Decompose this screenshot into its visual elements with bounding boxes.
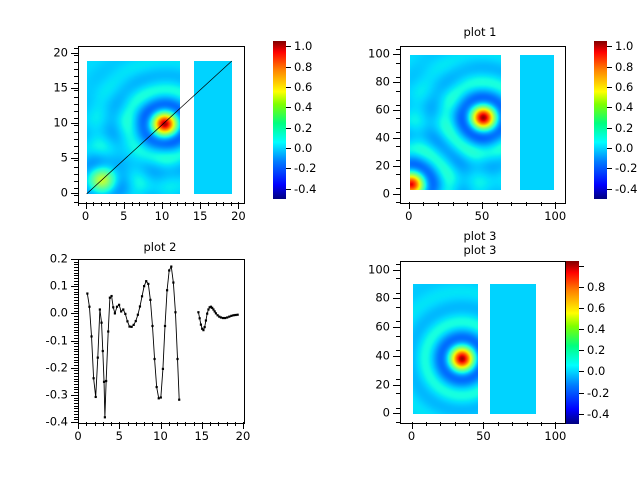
colorbar-tick <box>286 168 291 169</box>
y-minor-tick <box>396 91 400 92</box>
x-minor-tick <box>227 422 228 426</box>
colorbar-tick <box>607 128 612 129</box>
line-series-marker <box>158 397 160 399</box>
x-tick-label: 50 <box>476 431 491 443</box>
colorbar-tick-label: 1.0 <box>615 39 633 53</box>
x-major-tick <box>161 422 162 429</box>
y-minor-tick <box>74 62 78 63</box>
y-minor-tick <box>74 406 78 407</box>
y-major-tick <box>393 138 400 139</box>
y-tick-label: 0.2 <box>0 253 68 265</box>
y-minor-tick <box>74 97 78 98</box>
y-minor-tick <box>74 111 78 112</box>
x-minor-tick <box>177 202 178 206</box>
line-series-marker <box>133 324 135 326</box>
line-series-marker <box>90 335 92 337</box>
x-minor-tick <box>144 422 145 426</box>
colorbar-tick-label: -0.4 <box>587 407 609 421</box>
colorbar-tick-label: 0.8 <box>294 60 312 74</box>
y-minor-tick <box>74 335 78 336</box>
line-series-marker <box>178 399 180 401</box>
line-series-marker <box>224 317 226 319</box>
colorbar-tick <box>607 87 612 88</box>
y-major-tick <box>71 395 78 396</box>
x-minor-tick <box>169 422 170 426</box>
y-minor-tick <box>74 125 78 126</box>
y-minor-tick <box>396 379 400 380</box>
x-minor-tick <box>223 202 224 206</box>
y-minor-tick <box>74 188 78 189</box>
y-minor-tick <box>74 338 78 339</box>
y-minor-tick <box>74 343 78 344</box>
y-minor-tick <box>74 419 78 420</box>
y-major-tick <box>393 413 400 414</box>
y-tick-label: 5 <box>0 152 68 164</box>
y-minor-tick <box>74 76 78 77</box>
y-tick-label: 15 <box>0 82 68 94</box>
x-minor-tick <box>231 202 232 206</box>
y-minor-tick <box>74 319 78 320</box>
y-major-tick <box>71 313 78 314</box>
line-series-marker <box>234 314 236 316</box>
line-series-marker <box>95 396 97 398</box>
y-minor-tick <box>74 104 78 105</box>
colorbar-top-left <box>273 41 286 199</box>
heatmap-canvas <box>410 55 501 190</box>
x-major-tick <box>119 422 120 429</box>
x-major-tick <box>555 422 556 429</box>
line-series-marker <box>206 313 208 315</box>
colorbar-tick <box>286 87 291 88</box>
line-series-marker <box>139 305 141 307</box>
panel-bottom-right: plot 3 050100020406080100 -0.4-0.20.00.2… <box>320 240 640 480</box>
line-series-marker <box>212 308 214 310</box>
line-series-marker <box>124 313 126 315</box>
y-minor-tick <box>396 365 400 366</box>
y-major-tick <box>71 341 78 342</box>
y-minor-tick <box>396 422 400 423</box>
y-tick-label: 80 <box>320 76 390 88</box>
colorbar-tick-label: -0.2 <box>615 161 637 175</box>
y-minor-tick <box>396 278 400 279</box>
x-tick-label: 0 <box>82 211 89 223</box>
line-series-marker <box>149 299 151 301</box>
line-series-marker <box>135 320 137 322</box>
line-series-marker <box>176 358 178 360</box>
x-major-tick <box>200 202 201 209</box>
y-minor-tick <box>74 403 78 404</box>
y-tick-label: 100 <box>320 264 390 276</box>
colorbar-tick-label: -0.4 <box>615 182 637 196</box>
x-minor-tick <box>95 422 96 426</box>
line-series-marker <box>86 292 88 294</box>
panel-top-right: plot 1 050100020406080100plot 3 -0.4-0.2… <box>320 0 640 240</box>
y-minor-tick <box>74 376 78 377</box>
y-minor-tick <box>74 146 78 147</box>
x-major-tick <box>202 422 203 429</box>
panel-bottom-left: plot 2 051015200.20.10.0-0.1-0.2-0.3-0.4 <box>0 240 320 480</box>
colorbar-tick-label: 0.0 <box>615 141 633 155</box>
x-tick-label: 100 <box>544 211 566 223</box>
x-minor-tick <box>526 202 527 206</box>
y-minor-tick <box>74 392 78 393</box>
colorbar-tick-label: -0.4 <box>294 182 316 196</box>
line-series-marker <box>230 315 232 317</box>
x-minor-tick <box>218 422 219 426</box>
line-series-marker <box>226 316 228 318</box>
y-major-tick <box>393 54 400 55</box>
colorbar-tick <box>286 148 291 149</box>
y-tick-label: -0.1 <box>0 335 68 347</box>
y-major-tick <box>393 270 400 271</box>
heatmap-canvas <box>520 55 554 190</box>
line-series-marker <box>220 316 222 318</box>
line-series-marker <box>118 304 120 306</box>
y-minor-tick <box>74 292 78 293</box>
x-minor-tick <box>132 202 133 206</box>
x-minor-tick <box>103 422 104 426</box>
colorbar-gradient-top-right <box>594 41 607 199</box>
line-series-marker <box>222 317 224 319</box>
y-tick-label: 0.1 <box>0 280 68 292</box>
y-tick-label: 20 <box>320 379 390 391</box>
y-minor-tick <box>74 311 78 312</box>
x-minor-tick <box>216 202 217 206</box>
colorbar-tick-label: 0.0 <box>587 364 605 378</box>
line-series-plot <box>79 260 245 424</box>
colorbar-tick <box>579 329 584 330</box>
colorbar-tick <box>286 128 291 129</box>
y-minor-tick <box>74 267 78 268</box>
x-tick-label: 5 <box>120 211 127 223</box>
heatmap-canvas <box>490 284 536 414</box>
y-minor-tick <box>74 297 78 298</box>
colorbar-tick-label: 0.6 <box>615 80 633 94</box>
x-minor-tick <box>147 202 148 206</box>
y-minor-tick <box>396 293 400 294</box>
x-minor-tick <box>438 202 439 206</box>
line-series-marker <box>88 306 90 308</box>
x-minor-tick <box>194 422 195 426</box>
x-minor-tick <box>101 202 102 206</box>
x-minor-tick <box>423 202 424 206</box>
line-series-marker <box>166 289 168 291</box>
axes-top-right <box>400 46 566 204</box>
y-minor-tick <box>396 63 400 64</box>
y-minor-tick <box>74 354 78 355</box>
heatmap-image-patch <box>490 284 536 414</box>
heatmap-image-patch <box>413 284 478 414</box>
colorbar-tick-label: 0.4 <box>615 100 633 114</box>
y-minor-tick <box>74 408 78 409</box>
x-minor-tick <box>139 202 140 206</box>
y-minor-tick <box>74 308 78 309</box>
x-tick-label: 15 <box>194 431 209 443</box>
y-minor-tick <box>396 307 400 308</box>
x-tick-label: 50 <box>475 211 490 223</box>
y-major-tick <box>71 259 78 260</box>
panel-bottom-left-title: plot 2 <box>0 240 320 254</box>
y-minor-tick <box>396 188 400 189</box>
y-minor-tick <box>74 305 78 306</box>
x-minor-tick <box>116 202 117 206</box>
y-minor-tick <box>74 414 78 415</box>
x-major-tick <box>86 202 87 209</box>
line-series-marker <box>103 381 105 383</box>
y-minor-tick <box>74 294 78 295</box>
line-series-marker <box>105 380 107 382</box>
x-minor-tick <box>512 422 513 426</box>
colorbar-tick-label: 0.2 <box>587 343 605 357</box>
colorbar-tick <box>286 46 291 47</box>
line-series-marker <box>215 312 217 314</box>
x-tick-label: 0 <box>408 431 415 443</box>
colorbar-top-right <box>594 41 607 199</box>
line-series-marker <box>197 311 199 313</box>
x-minor-tick <box>109 202 110 206</box>
x-minor-tick <box>78 202 79 206</box>
line-series-marker <box>200 324 202 326</box>
colorbar-tick-label: 0.0 <box>294 141 312 155</box>
y-minor-tick <box>74 387 78 388</box>
line-series-marker <box>162 368 164 370</box>
y-minor-tick <box>74 417 78 418</box>
y-major-tick <box>71 286 78 287</box>
axes-top-left <box>78 46 245 204</box>
x-minor-tick <box>136 422 137 426</box>
y-minor-tick <box>74 330 78 331</box>
y-tick-label: 80 <box>320 293 390 305</box>
y-major-tick <box>393 110 400 111</box>
y-minor-tick <box>74 55 78 56</box>
x-minor-tick <box>111 422 112 426</box>
colorbar-tick-label: 1.0 <box>294 39 312 53</box>
line-series-marker <box>151 325 153 327</box>
x-major-tick <box>482 202 483 209</box>
y-minor-tick <box>74 281 78 282</box>
colorbar-tick <box>607 67 612 68</box>
x-minor-tick <box>128 422 129 426</box>
line-series-marker <box>116 306 118 308</box>
y-tick-label: -0.2 <box>0 362 68 374</box>
colorbar-tick-label: 0.4 <box>587 322 605 336</box>
x-tick-label: 15 <box>193 211 208 223</box>
y-minor-tick <box>396 132 400 133</box>
y-tick-label: 0.0 <box>0 308 68 320</box>
axes-bottom-right <box>400 261 566 424</box>
x-minor-tick <box>193 202 194 206</box>
x-major-tick <box>409 202 410 209</box>
y-tick-label: 40 <box>320 350 390 362</box>
line-series-marker <box>164 325 166 327</box>
line-series-marker <box>131 326 133 328</box>
y-tick-label: 60 <box>320 104 390 116</box>
x-tick-label: 20 <box>231 211 246 223</box>
y-minor-tick <box>74 316 78 317</box>
y-minor-tick <box>396 408 400 409</box>
y-major-tick <box>393 82 400 83</box>
y-tick-label: 20 <box>320 160 390 172</box>
y-minor-tick <box>74 153 78 154</box>
y-tick-label: 0 <box>320 188 390 200</box>
y-minor-tick <box>74 357 78 358</box>
x-minor-tick <box>541 422 542 426</box>
x-minor-tick <box>235 422 236 426</box>
y-minor-tick <box>74 327 78 328</box>
x-minor-tick <box>440 422 441 426</box>
line-series-marker <box>97 357 99 359</box>
y-minor-tick <box>74 275 78 276</box>
colorbar-tick <box>579 371 584 372</box>
heatmap-canvas <box>87 61 180 194</box>
x-minor-tick <box>455 422 456 426</box>
y-tick-label: 10 <box>0 117 68 129</box>
colorbar-gradient-bottom-right <box>566 261 579 424</box>
y-major-tick <box>393 166 400 167</box>
heatmap-canvas <box>194 61 232 194</box>
x-minor-tick <box>527 422 528 426</box>
y-minor-tick <box>396 49 400 50</box>
y-minor-tick <box>74 289 78 290</box>
x-major-tick <box>78 422 79 429</box>
line-series-marker <box>214 310 216 312</box>
y-minor-tick <box>74 300 78 301</box>
x-tick-label: 10 <box>155 211 170 223</box>
x-minor-tick <box>93 202 94 206</box>
line-series-marker <box>126 320 128 322</box>
y-major-tick <box>71 88 78 89</box>
line-series-marker <box>170 266 172 268</box>
axes-bottom-left <box>78 259 245 424</box>
y-minor-tick <box>74 132 78 133</box>
line-series-marker <box>120 310 122 312</box>
x-minor-tick <box>152 422 153 426</box>
colorbar-tick <box>286 189 291 190</box>
y-minor-tick <box>396 174 400 175</box>
colorbar-tick <box>286 107 291 108</box>
line-series-marker <box>112 306 114 308</box>
y-minor-tick <box>74 262 78 263</box>
y-tick-label: 100 <box>320 49 390 61</box>
colorbar-tick-label: 0.4 <box>294 100 312 114</box>
x-minor-tick <box>453 202 454 206</box>
y-minor-tick <box>74 174 78 175</box>
x-major-tick <box>483 422 484 429</box>
y-major-tick <box>71 193 78 194</box>
y-tick-label: 20 <box>0 47 68 59</box>
colorbar-tick <box>607 148 612 149</box>
line-series-marker <box>143 285 145 287</box>
y-minor-tick <box>396 146 400 147</box>
y-tick-label: 40 <box>320 132 390 144</box>
line-series-marker <box>107 330 109 332</box>
x-tick-label: 20 <box>236 431 251 443</box>
line-series-marker <box>114 312 116 314</box>
x-tick-label: 5 <box>116 431 123 443</box>
y-tick-label: -0.4 <box>0 416 68 428</box>
x-minor-tick <box>154 202 155 206</box>
x-tick-label: 0 <box>405 211 412 223</box>
line-series-marker <box>156 386 158 388</box>
colorbar-tick <box>607 189 612 190</box>
y-minor-tick <box>74 69 78 70</box>
colorbar-tick-label: 0.6 <box>294 80 312 94</box>
y-minor-tick <box>74 370 78 371</box>
colorbar-tick <box>579 350 584 351</box>
x-tick-label: 10 <box>153 431 168 443</box>
y-minor-tick <box>396 105 400 106</box>
heatmap-image-patch <box>194 61 232 194</box>
line-series-marker <box>122 308 124 310</box>
y-minor-tick <box>74 322 78 323</box>
y-minor-tick <box>74 48 78 49</box>
y-minor-tick <box>74 411 78 412</box>
colorbar-tick-label: 0.2 <box>294 121 312 135</box>
y-tick-label: 0 <box>320 408 390 420</box>
y-tick-label: 0 <box>0 187 68 199</box>
x-major-tick <box>243 422 244 429</box>
panel-top-right-title: plot 1 <box>320 25 640 39</box>
line-series-marker <box>100 322 102 324</box>
x-minor-tick <box>497 202 498 206</box>
y-minor-tick <box>74 400 78 401</box>
line-series-marker <box>232 314 234 316</box>
colorbar-tick <box>579 287 584 288</box>
line-series-marker <box>228 316 230 318</box>
y-minor-tick <box>74 278 78 279</box>
line-series-marker <box>145 280 147 282</box>
colorbar-tick-label: 0.6 <box>587 301 605 315</box>
line-series-path <box>87 267 179 418</box>
line-series-marker <box>168 269 170 271</box>
line-series-marker <box>237 314 239 316</box>
y-minor-tick <box>74 181 78 182</box>
y-minor-tick <box>74 362 78 363</box>
line-series-marker <box>160 396 162 398</box>
y-tick-label: -0.3 <box>0 389 68 401</box>
colorbar-tick <box>579 266 584 267</box>
x-major-tick <box>555 202 556 209</box>
y-minor-tick <box>74 264 78 265</box>
x-minor-tick <box>426 422 427 426</box>
y-major-tick <box>393 298 400 299</box>
line-series-marker <box>128 325 130 327</box>
y-minor-tick <box>74 167 78 168</box>
figure-canvas: 0510152005101520 -0.4-0.20.00.20.40.60.8… <box>0 0 640 480</box>
y-minor-tick <box>74 384 78 385</box>
heatmap-image-patch <box>410 55 501 190</box>
y-tick-label: 60 <box>320 321 390 333</box>
x-major-tick <box>124 202 125 209</box>
y-minor-tick <box>74 83 78 84</box>
y-major-tick <box>71 158 78 159</box>
y-minor-tick <box>74 195 78 196</box>
colorbar-tick <box>607 168 612 169</box>
y-minor-tick <box>74 270 78 271</box>
y-minor-tick <box>74 373 78 374</box>
y-major-tick <box>393 385 400 386</box>
colorbar-tick-label: 0.2 <box>615 121 633 135</box>
x-minor-tick <box>498 422 499 426</box>
colorbar-gradient-top-left <box>273 41 286 199</box>
y-minor-tick <box>74 349 78 350</box>
y-minor-tick <box>396 393 400 394</box>
y-minor-tick <box>74 332 78 333</box>
line-series-marker <box>102 350 104 352</box>
y-minor-tick <box>396 321 400 322</box>
y-major-tick <box>71 368 78 369</box>
y-minor-tick <box>74 139 78 140</box>
